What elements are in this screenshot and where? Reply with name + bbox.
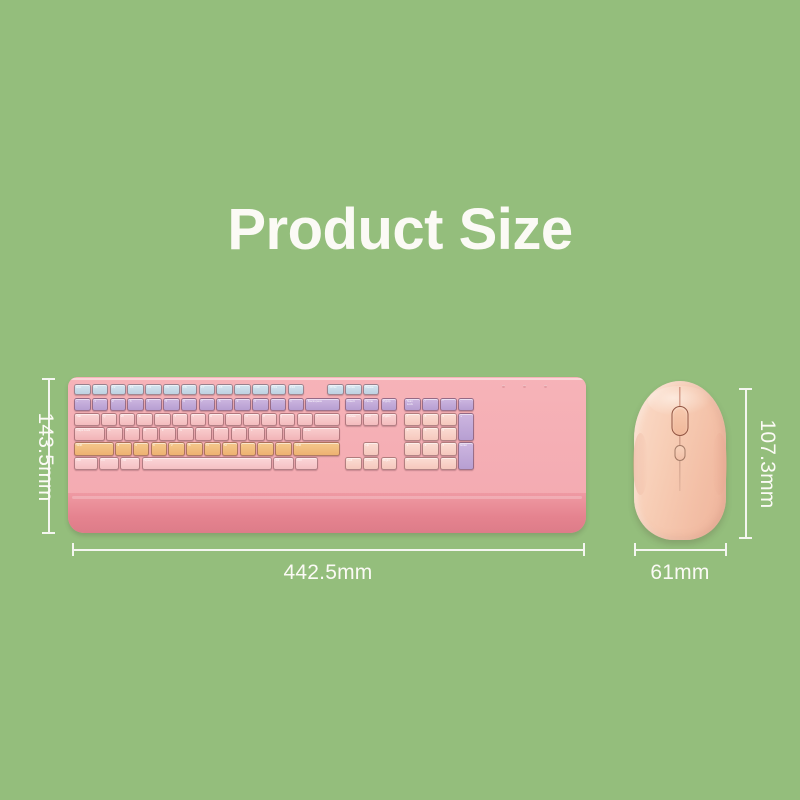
key-q[interactable]: Q <box>101 413 118 427</box>
key--[interactable]: * <box>440 398 457 412</box>
key-v[interactable]: V <box>168 442 185 456</box>
keyboard-height-cap-bottom <box>42 532 55 534</box>
key-7[interactable]: 7 <box>199 398 216 412</box>
key-i[interactable]: I <box>225 413 242 427</box>
key-numpad-plus[interactable]: + <box>458 413 475 441</box>
wireless-mouse <box>634 381 726 540</box>
key--[interactable]: / <box>275 442 292 456</box>
key-n[interactable]: N <box>204 442 221 456</box>
key-x[interactable]: X <box>133 442 150 456</box>
key-numpad-6[interactable]: 6 <box>440 427 457 441</box>
key-s[interactable]: S <box>124 427 141 441</box>
key--[interactable]: / <box>422 398 439 412</box>
key-f2[interactable]: F2 <box>110 384 127 395</box>
key-g[interactable]: G <box>177 427 194 441</box>
key-insert[interactable]: Insert <box>345 398 362 412</box>
key-numpad-7[interactable]: 7 <box>404 413 421 427</box>
key-shift[interactable]: Shift <box>74 442 114 456</box>
key-p[interactable]: P <box>261 413 278 427</box>
key-y[interactable]: Y <box>190 413 207 427</box>
key-3[interactable]: 3 <box>127 398 144 412</box>
key-pgup[interactable]: PgUp <box>381 398 398 412</box>
key-f1[interactable]: F1 <box>92 384 109 395</box>
keyboard-height-cap-top <box>42 378 55 380</box>
key--[interactable]: ' <box>284 427 301 441</box>
key-k[interactable]: K <box>231 427 248 441</box>
key-pause[interactable]: Pause <box>363 384 380 395</box>
key-pgdn[interactable]: PgDn <box>381 413 398 427</box>
key-l[interactable]: L <box>248 427 265 441</box>
mouse-height-dimension-line <box>745 388 747 538</box>
key-fn[interactable]: Fn <box>99 457 119 471</box>
mouse-width-label: 61mm <box>634 561 726 585</box>
palm-rest-highlight <box>72 496 582 499</box>
key-shift[interactable]: Shift <box>293 442 340 456</box>
key-numpad-0[interactable]: 0 <box>404 457 438 471</box>
key-home[interactable]: Home <box>363 398 380 412</box>
keyboard-width-label: 442.5mm <box>72 561 584 585</box>
key-f11[interactable]: F11 <box>270 384 287 395</box>
key-arrow-up[interactable]: Up <box>363 442 380 456</box>
key--[interactable]: \ <box>314 413 340 427</box>
mouse-left-waist-shadow <box>633 433 648 495</box>
mouse-height-label: 107.3mm <box>755 409 779 519</box>
key-b[interactable]: B <box>186 442 203 456</box>
key-h[interactable]: H <box>195 427 212 441</box>
key-z[interactable]: Z <box>115 442 132 456</box>
key-numpad-9[interactable]: 9 <box>440 413 457 427</box>
key-f3[interactable]: F3 <box>127 384 144 395</box>
key-f10[interactable]: F10 <box>252 384 269 395</box>
key-arrow-right[interactable]: Right <box>381 457 398 471</box>
key-alt[interactable]: Alt <box>273 457 293 471</box>
key-numpad-2[interactable]: 2 <box>422 442 439 456</box>
key-numpad-enter[interactable]: Enter <box>458 442 475 470</box>
key-arrow-left[interactable]: Left <box>345 457 362 471</box>
key-tab[interactable]: Tab <box>74 413 100 427</box>
page-title: Product Size <box>0 198 800 262</box>
key--[interactable]: , <box>240 442 257 456</box>
keyboard-width-cap-left <box>72 543 74 556</box>
mouse-width-cap-right <box>725 543 727 556</box>
key-t[interactable]: T <box>172 413 189 427</box>
key-6[interactable]: 6 <box>181 398 198 412</box>
mouse-height-cap-bottom <box>739 537 752 539</box>
mouse-width-dimension-line <box>634 549 726 551</box>
key--[interactable]: ; <box>266 427 283 441</box>
key--[interactable]: ~ <box>74 398 91 412</box>
key-1[interactable]: 1 <box>92 398 109 412</box>
key-c[interactable]: C <box>151 442 168 456</box>
key-delete[interactable]: Delete <box>345 413 362 427</box>
key-numpad-3[interactable]: 3 <box>440 442 457 456</box>
key-f6[interactable]: F6 <box>181 384 198 395</box>
key-d[interactable]: D <box>142 427 159 441</box>
key-f9[interactable]: F9 <box>234 384 251 395</box>
scroll-wheel <box>672 406 689 436</box>
key-numpad-4[interactable]: 4 <box>404 427 421 441</box>
key-arrow-down[interactable]: Down <box>363 457 380 471</box>
keyboard-width-cap-right <box>583 543 585 556</box>
key--[interactable]: . <box>257 442 274 456</box>
key-m[interactable]: M <box>222 442 239 456</box>
mouse-right-waist-shadow <box>712 433 727 495</box>
key--[interactable]: - <box>270 398 287 412</box>
key-u[interactable]: U <box>208 413 225 427</box>
keyboard-palm-rest <box>68 493 586 533</box>
key-a[interactable]: A <box>106 427 123 441</box>
key-5[interactable]: 5 <box>163 398 180 412</box>
dpi-button <box>675 445 686 461</box>
mouse-width-cap-left <box>634 543 636 556</box>
key-e[interactable]: E <box>136 413 153 427</box>
key-j[interactable]: J <box>213 427 230 441</box>
mouse-button-seam <box>679 387 680 491</box>
key-f8[interactable]: F8 <box>216 384 233 395</box>
key-scrlk[interactable]: ScrLk <box>345 384 362 395</box>
key--[interactable]: [ <box>279 413 296 427</box>
key-2[interactable]: 2 <box>110 398 127 412</box>
key-caps-lock[interactable]: Caps Lock <box>74 427 105 441</box>
mouse-height-cap-top <box>739 388 752 390</box>
key-backspace[interactable]: Backspace <box>305 398 339 412</box>
key--[interactable]: - <box>458 398 475 412</box>
key-space[interactable]: Space <box>142 457 273 471</box>
key--[interactable]: ] <box>297 413 314 427</box>
key-w[interactable]: W <box>119 413 136 427</box>
key-f12[interactable]: F12 <box>288 384 305 395</box>
key-prtsc[interactable]: PrtSc <box>327 384 344 395</box>
key-o[interactable]: O <box>243 413 260 427</box>
key-ctrl[interactable]: Ctrl <box>74 457 98 471</box>
key-enter[interactable]: Enter <box>302 427 340 441</box>
key-esc[interactable]: Esc <box>74 384 91 395</box>
mouse-body <box>634 381 726 540</box>
key-f5[interactable]: F5 <box>163 384 180 395</box>
key-num-lock[interactable]: Num Lock <box>404 398 421 412</box>
key-f[interactable]: F <box>159 427 176 441</box>
key-alt[interactable]: Alt <box>120 457 140 471</box>
key-0[interactable]: 0 <box>252 398 269 412</box>
keyboard-height-label: 143.5mm <box>33 402 57 512</box>
key-f7[interactable]: F7 <box>199 384 216 395</box>
keyboard-width-dimension-line <box>72 549 584 551</box>
keyboard-deck-highlight <box>70 378 584 380</box>
key-numpad-decimal[interactable]: . <box>440 457 457 471</box>
key-8[interactable]: 8 <box>216 398 233 412</box>
key-numpad-1[interactable]: 1 <box>404 442 421 456</box>
wireless-keyboard: EscF1F2F3F4F5F6F7F8F9F10F11F12PrtScScrLk… <box>68 377 586 533</box>
key-9[interactable]: 9 <box>234 398 251 412</box>
key-r[interactable]: R <box>154 413 171 427</box>
key-ctrl[interactable]: Ctrl <box>295 457 319 471</box>
key--[interactable]: = <box>288 398 305 412</box>
key-f4[interactable]: F4 <box>145 384 162 395</box>
product-size-image: Product Size 143.5mm 442.5mm 107.3mm 61m… <box>0 0 800 800</box>
key-numpad-8[interactable]: 8 <box>422 413 439 427</box>
key-4[interactable]: 4 <box>145 398 162 412</box>
key-end[interactable]: End <box>363 413 380 427</box>
key-numpad-5[interactable]: 5 <box>422 427 439 441</box>
